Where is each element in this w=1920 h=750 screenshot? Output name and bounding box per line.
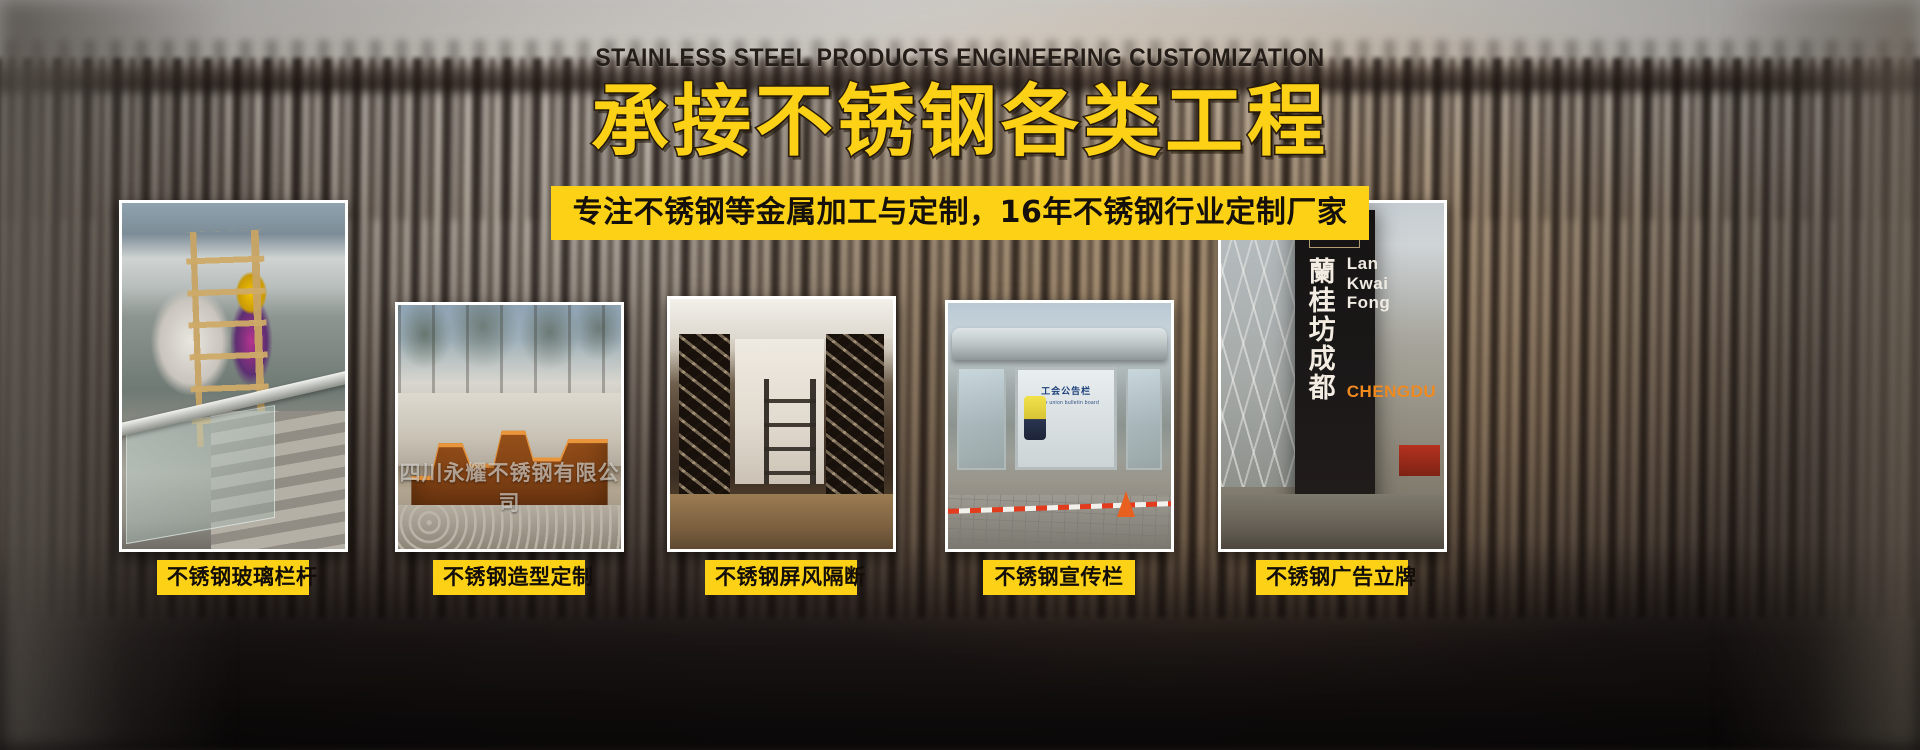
gallery-item-4[interactable]: 工会公告栏 Trade union bulletin board: [945, 300, 1174, 552]
gallery-item-3[interactable]: [667, 296, 896, 552]
traffic-cone-shape: [1117, 491, 1135, 517]
subtitle-banner: 专注不锈钢等金属加工与定制，16年不锈钢行业定制厂家: [551, 186, 1370, 240]
headline-block: STAINLESS STEEL PRODUCTS ENGINEERING CUS…: [0, 46, 1920, 163]
gravel-shape: [398, 505, 621, 549]
gallery-item-5[interactable]: 蘭桂坊成都 Lan Kwai Fong CHENGDU: [1218, 200, 1447, 552]
pylon-english-text: Lan Kwai Fong: [1347, 254, 1369, 311]
shelter-canopy-shape: [952, 328, 1166, 360]
subtitle-banner-wrap: 专注不锈钢等金属加工与定制，16年不锈钢行业定制厂家: [0, 186, 1920, 240]
gallery-strip: 不锈钢玻璃栏杆 四川永耀不锈钢有限公司 不锈钢造型定制: [0, 196, 1920, 750]
pylon-city-text: CHENGDU: [1347, 382, 1369, 401]
page-title: 承接不锈钢各类工程: [0, 82, 1920, 163]
gallery-caption-2: 不锈钢造型定制: [433, 560, 585, 595]
ceiling-shape: [670, 299, 893, 339]
promo-banner: STAINLESS STEEL PRODUCTS ENGINEERING CUS…: [0, 0, 1920, 750]
gallery-photo-5: 蘭桂坊成都 Lan Kwai Fong CHENGDU: [1221, 203, 1444, 549]
ladder-shape: [764, 379, 816, 484]
trees-shape: [398, 305, 621, 403]
gallery-photo-1: [122, 203, 345, 549]
screen-panel-right: [826, 334, 884, 519]
worker-figure: [1024, 396, 1046, 440]
glass-panel-left: [957, 367, 1006, 470]
gallery-photo-2: 四川永耀不锈钢有限公司: [398, 305, 621, 549]
bulletin-board-title: 工会公告栏: [1018, 384, 1115, 397]
gallery-caption-4: 不锈钢宣传栏: [983, 560, 1135, 595]
gallery-item-1[interactable]: [119, 200, 348, 552]
pylon-chinese-text: 蘭桂坊成都: [1299, 258, 1346, 404]
screen-panel-left: [679, 334, 730, 519]
gallery-caption-5: 不锈钢广告立牌: [1256, 560, 1408, 595]
red-awning-shape: [1399, 445, 1439, 476]
ground-shape: [1221, 494, 1444, 549]
floor-shape: [670, 494, 893, 549]
pylon-sign-shape: 蘭桂坊成都 Lan Kwai Fong CHENGDU: [1295, 210, 1375, 528]
eyebrow-text: STAINLESS STEEL PRODUCTS ENGINEERING CUS…: [77, 46, 1843, 71]
glass-panel-right: [1126, 367, 1162, 470]
gallery-caption-3: 不锈钢屏风隔断: [705, 560, 857, 595]
gallery-item-2[interactable]: 四川永耀不锈钢有限公司: [395, 302, 624, 552]
gallery-photo-3: [670, 299, 893, 549]
gallery-caption-1: 不锈钢玻璃栏杆: [157, 560, 309, 595]
gallery-photo-4: 工会公告栏 Trade union bulletin board: [948, 303, 1171, 549]
